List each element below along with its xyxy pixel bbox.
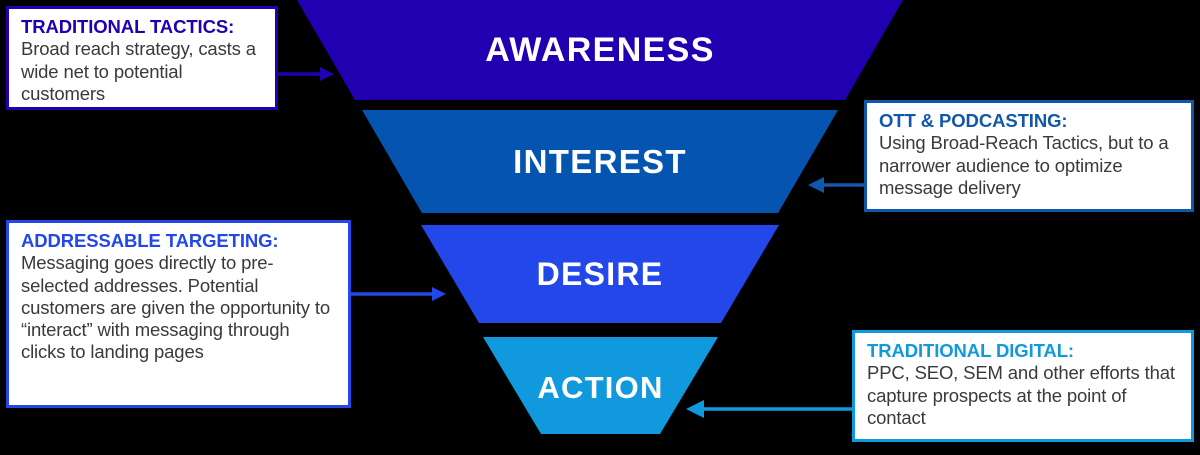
callout-traditional-tactics-body: Broad reach strategy, casts a wide net t…: [21, 38, 265, 105]
connector-arrow-traditional-tactics: [276, 62, 336, 86]
funnel-stage-awareness-label: AWARENESS: [485, 33, 715, 67]
callout-addressable-targeting-body: Messaging goes directly to pre-selected …: [21, 252, 338, 363]
funnel-infographic: AWARENESS INTEREST DESIRE ACTION: [0, 0, 1200, 455]
callout-addressable-targeting[interactable]: ADDRESSABLE TARGETING: Messaging goes di…: [6, 220, 351, 408]
callout-traditional-digital-body: PPC, SEO, SEM and other efforts that cap…: [867, 362, 1181, 429]
connector-arrow-ott-podcasting: [806, 173, 868, 197]
callout-traditional-digital[interactable]: TRADITIONAL DIGITAL: PPC, SEO, SEM and o…: [852, 330, 1194, 442]
callout-addressable-targeting-title: ADDRESSABLE TARGETING:: [21, 230, 338, 251]
connector-arrow-traditional-digital: [684, 396, 856, 422]
funnel-stage-awareness[interactable]: AWARENESS: [290, 0, 910, 100]
callout-traditional-tactics-title: TRADITIONAL TACTICS:: [21, 16, 265, 37]
callout-ott-podcasting-body: Using Broad-Reach Tactics, but to a narr…: [879, 132, 1181, 199]
funnel-stage-desire[interactable]: DESIRE: [415, 225, 785, 323]
callout-ott-podcasting[interactable]: OTT & PODCASTING: Using Broad-Reach Tact…: [864, 100, 1194, 212]
callout-traditional-tactics[interactable]: TRADITIONAL TACTICS: Broad reach strateg…: [6, 6, 278, 110]
funnel-stage-interest-label: INTEREST: [513, 145, 687, 178]
callout-ott-podcasting-title: OTT & PODCASTING:: [879, 110, 1181, 131]
funnel-stage-action[interactable]: ACTION: [478, 337, 723, 437]
funnel-stage-desire-label: DESIRE: [537, 258, 664, 290]
connector-arrow-addressable-targeting: [348, 282, 448, 306]
funnel-stage-action-label: ACTION: [537, 372, 663, 403]
callout-traditional-digital-title: TRADITIONAL DIGITAL:: [867, 340, 1181, 361]
funnel-stage-interest[interactable]: INTEREST: [355, 110, 845, 213]
